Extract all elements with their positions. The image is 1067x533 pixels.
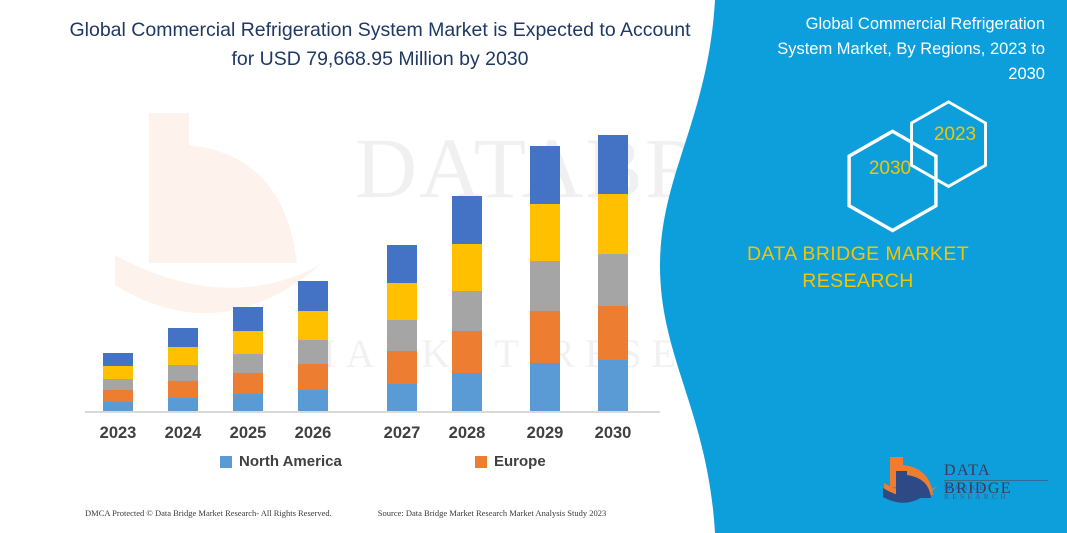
bar-segment-north-america <box>452 373 482 412</box>
bar-segment-series-4 <box>598 194 628 253</box>
bar-segment-north-america <box>233 394 263 412</box>
bar-segment-series-4 <box>452 244 482 291</box>
bar-segment-series-3 <box>233 354 263 373</box>
hexagon-2030-label: 2030 <box>850 158 930 180</box>
bar-segment-series-4 <box>233 331 263 354</box>
bar-segment-europe <box>168 381 198 398</box>
bar-segment-series-3 <box>598 254 628 306</box>
x-axis-label-2029: 2029 <box>515 424 575 443</box>
x-axis-label-2025: 2025 <box>218 424 278 443</box>
bar-segment-europe <box>103 390 133 402</box>
bar-2029[interactable] <box>530 146 560 412</box>
x-axis-label-2024: 2024 <box>153 424 213 443</box>
databridge-logo-icon <box>882 455 940 507</box>
bar-segment-series-3 <box>298 340 328 364</box>
bar-segment-north-america <box>387 384 417 412</box>
brand-name-line2: RESEARCH <box>678 270 1038 293</box>
company-logo: DATA BRIDGE MARKET RESEARCH <box>882 452 1054 508</box>
bar-segment-series-3 <box>103 379 133 390</box>
x-axis-label-2030: 2030 <box>583 424 643 443</box>
bar-2024[interactable] <box>168 328 198 412</box>
bar-segment-north-america <box>598 360 628 412</box>
bar-segment-series-4 <box>103 366 133 379</box>
bar-segment-series-5 <box>530 146 560 204</box>
x-axis-label-2027: 2027 <box>372 424 432 443</box>
bar-segment-series-5 <box>298 281 328 311</box>
bar-segment-north-america <box>168 398 198 412</box>
x-axis-line <box>85 411 660 413</box>
stacked-bar-chart: 20232024202520262027202820292030 North A… <box>0 0 700 470</box>
footer-source: Source: Data Bridge Market Research Mark… <box>378 508 607 518</box>
bar-segment-europe <box>530 311 560 363</box>
x-axis-labels: 20232024202520262027202820292030 <box>85 424 665 452</box>
bar-2026[interactable] <box>298 281 328 412</box>
chart-plot-area <box>85 100 665 412</box>
bar-segment-europe <box>233 373 263 394</box>
bar-segment-series-3 <box>530 261 560 311</box>
bar-2025[interactable] <box>233 307 263 412</box>
bar-segment-europe <box>387 351 417 384</box>
bar-segment-series-5 <box>452 196 482 244</box>
right-panel-content: Global Commercial Refrigeration System M… <box>660 0 1067 533</box>
footer-copyright: DMCA Protected © Data Bridge Market Rese… <box>85 508 332 518</box>
legend-item-europe[interactable]: Europe <box>475 453 546 470</box>
x-axis-label-2028: 2028 <box>437 424 497 443</box>
bar-segment-series-3 <box>168 365 198 381</box>
bar-segment-series-5 <box>598 135 628 194</box>
chart-legend: North AmericaEurope <box>85 453 665 477</box>
legend-label: Europe <box>494 453 546 470</box>
x-axis-label-2026: 2026 <box>283 424 343 443</box>
bar-segment-series-5 <box>168 328 198 347</box>
logo-divider <box>944 480 1048 481</box>
legend-swatch-icon <box>220 456 232 468</box>
bar-segment-series-3 <box>387 320 417 351</box>
bar-segment-series-4 <box>387 283 417 320</box>
left-chart-panel: DATABRIDGE MARKET RESEARCH Global Commer… <box>0 0 760 533</box>
logo-text-sub: MARKET RESEARCH <box>944 483 1054 501</box>
legend-swatch-icon <box>475 456 487 468</box>
bar-segment-series-4 <box>530 204 560 261</box>
bar-segment-north-america <box>298 390 328 412</box>
hexagon-2030-shape <box>849 131 936 230</box>
bar-segment-europe <box>298 364 328 390</box>
bar-segment-europe <box>452 331 482 373</box>
bar-segment-series-3 <box>452 291 482 331</box>
bar-segment-series-5 <box>387 245 417 283</box>
legend-label: North America <box>239 453 342 470</box>
bar-segment-north-america <box>530 363 560 412</box>
bar-2027[interactable] <box>387 245 417 412</box>
bar-2030[interactable] <box>598 135 628 412</box>
hexagon-2023-label: 2023 <box>915 124 995 146</box>
legend-item-north-america[interactable]: North America <box>220 453 342 470</box>
right-info-panel: Global Commercial Refrigeration System M… <box>660 0 1067 533</box>
bar-segment-series-4 <box>168 347 198 365</box>
x-axis-label-2023: 2023 <box>88 424 148 443</box>
bar-segment-series-5 <box>103 353 133 366</box>
footer: DMCA Protected © Data Bridge Market Rese… <box>85 508 685 518</box>
panel-title: Global Commercial Refrigeration System M… <box>755 12 1045 87</box>
bar-segment-series-4 <box>298 311 328 340</box>
bar-segment-series-5 <box>233 307 263 331</box>
bar-2028[interactable] <box>452 196 482 412</box>
bar-segment-europe <box>598 306 628 360</box>
brand-name-line1: DATA BRIDGE MARKET <box>678 243 1038 266</box>
bar-2023[interactable] <box>103 353 133 412</box>
